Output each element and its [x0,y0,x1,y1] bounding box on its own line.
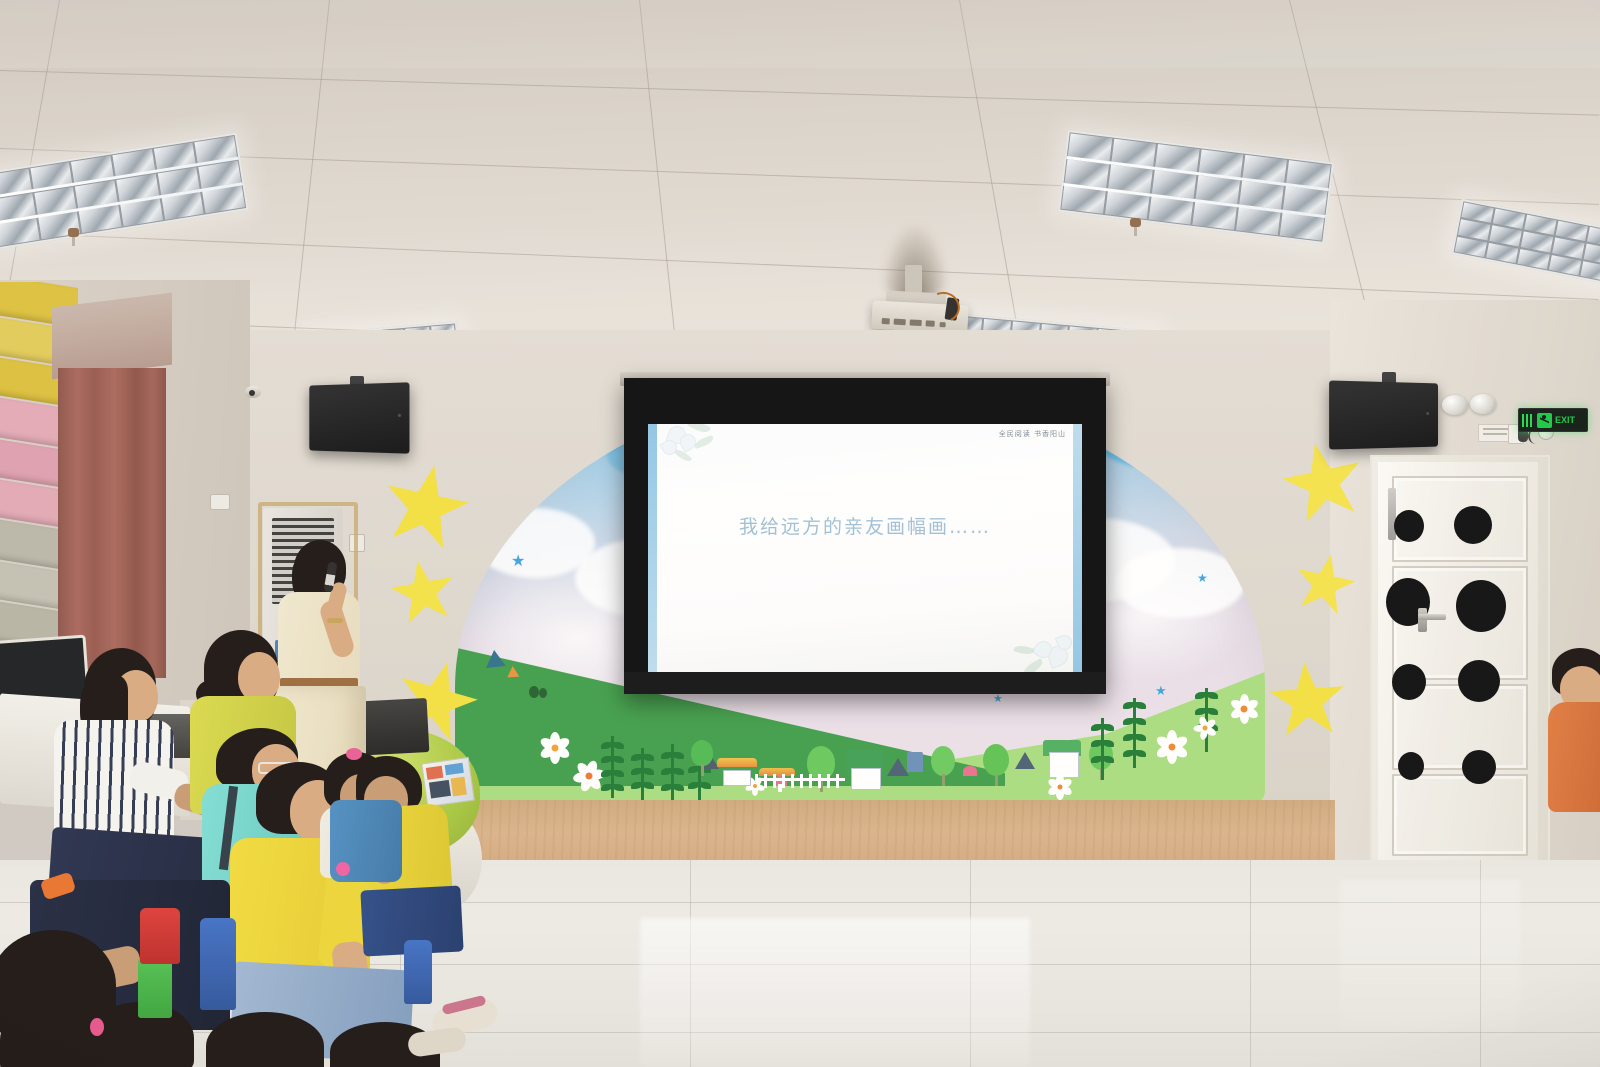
child-chair-blue [404,940,432,1004]
child-chair-red [140,908,180,964]
mural-blue-star: ★ [993,694,1003,705]
mural-fence-rail [755,778,845,781]
slide-flower-decor-bottom-right [998,614,1078,672]
mural-tree-small [529,686,539,698]
child-chair-green [138,956,172,1018]
room-photo-scene: ★ ★ ★ ★ ★ ★ ★ [0,0,1600,1067]
exit-sign-label: EXIT [1555,415,1575,425]
mural-tree-trunk [995,774,998,786]
door-dot-decal [1456,580,1506,632]
running-man-icon [1537,413,1552,428]
door-dot-decal [1392,664,1426,700]
mural-tree [931,746,955,776]
wall-star-decal [1268,660,1346,738]
mural-tent [1015,752,1035,769]
picture-book [421,757,475,807]
mural-house-body [851,768,881,790]
mural-sailboat [507,666,520,678]
child-chair-blue [200,918,236,1010]
right-wall-speaker [1329,380,1438,449]
mural-house [723,770,751,786]
pink-hair-tie [90,1018,104,1036]
curtain-pelmet [52,293,172,380]
mural-tree [983,744,1009,776]
mural-daisy [537,730,573,766]
mural-tree-trunk [942,774,945,786]
screen-floor-reflection [640,918,1030,1066]
mural-daisy [1047,774,1073,800]
mural-tent [887,758,909,776]
mural-daisy [1193,716,1217,740]
mural-blue-star: ★ [1197,572,1208,584]
white-door-with-black-dots[interactable] [1378,462,1538,860]
exit-sign: EXIT [1518,408,1588,432]
torso-orange-top [1548,702,1600,812]
mural-tree-trunk [701,764,704,776]
wall-star-decal [390,558,456,624]
mural-tree-small [539,688,547,698]
lollipop [336,862,350,876]
mural-daisy [1229,694,1259,724]
security-camera [245,386,261,398]
mural-house [907,752,923,772]
ceiling-hanger-head [1130,218,1141,227]
head [238,652,280,702]
light-switch-plate[interactable] [210,494,230,510]
exit-sign-hatching [1522,414,1534,427]
door-dot-decal [1462,750,1496,784]
mural-bench [717,758,757,767]
mural-mushroom [963,766,977,776]
mural-blue-star: ★ [511,554,525,570]
wall-star-decal [1282,440,1364,522]
emergency-light [1442,395,1468,415]
projection-screen: 全民阅读 书香阳山 我给远方的亲友画幅画…… [648,424,1082,672]
presenter-bracelet [327,618,343,623]
door-dot-decal [1454,506,1492,544]
door-dot-decal [1398,752,1424,780]
mural-daisy [1155,730,1189,764]
mural-tree [691,740,713,766]
wall-floor-reflection [1340,880,1520,1030]
door-handle[interactable] [1418,614,1446,620]
pink-hair-tie [346,748,362,760]
projection-screen-bottom-bar [624,672,1106,694]
window-curtain [58,368,166,678]
slide-header-text: 全民阅读 书香阳山 [999,429,1066,439]
mural-fence [755,774,845,788]
slide-flower-decor-top-left [654,424,724,476]
left-wall-speaker [309,382,409,453]
door-dot-decal [1458,660,1500,702]
door-handle-plate[interactable] [1418,608,1427,632]
slide-main-text: 我给远方的亲友画幅画…… [648,512,1082,539]
door-dot-decal [1394,510,1424,542]
wall-star-decal [383,462,469,548]
mural-sailboat [484,649,506,668]
wall-star-decal [1294,552,1356,614]
ceiling-hanger-head [68,228,79,237]
emergency-light [1470,394,1496,414]
mural-blue-star: ★ [1155,684,1167,697]
